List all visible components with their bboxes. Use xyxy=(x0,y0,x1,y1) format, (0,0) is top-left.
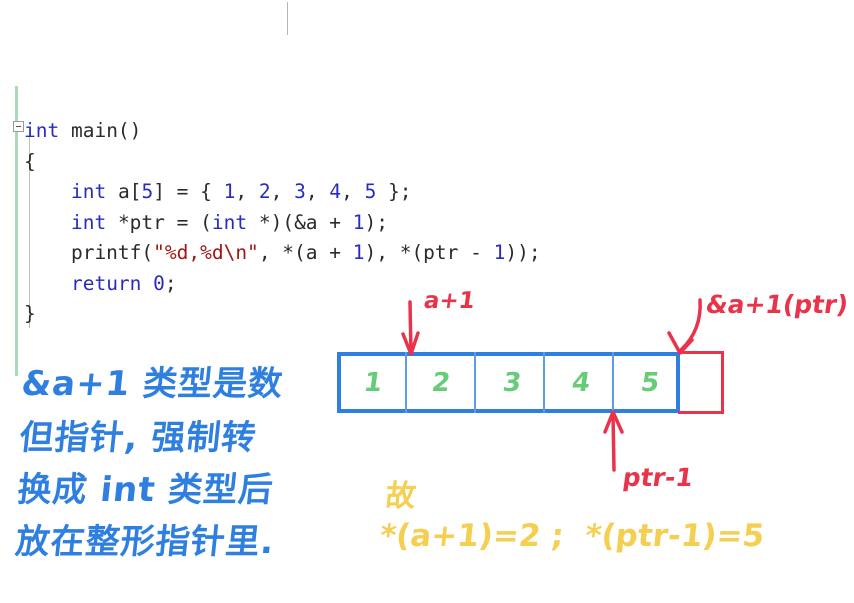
code-token: *ptr = ( xyxy=(106,211,212,234)
code-line: int a[5] = { 1, 2, 3, 4, 5 }; xyxy=(24,177,541,208)
code-token: } xyxy=(24,302,36,325)
code-token: 1 xyxy=(353,241,365,264)
code-token: { xyxy=(24,150,36,173)
code-token: "%d,%d\n" xyxy=(153,241,259,264)
code-line: { xyxy=(24,147,541,178)
code-token xyxy=(24,211,71,234)
code-token: 1 xyxy=(224,180,236,203)
code-token: 5 xyxy=(365,180,377,203)
code-token: , xyxy=(306,180,329,203)
code-token: int xyxy=(24,119,59,142)
text-cursor xyxy=(287,2,288,35)
code-line: } xyxy=(24,299,541,330)
code-token: , *(a + xyxy=(259,241,353,264)
code-token: printf( xyxy=(24,241,153,264)
code-token: a[ xyxy=(106,180,141,203)
code-token: 1 xyxy=(353,211,365,234)
code-token xyxy=(24,180,71,203)
code-token: ] = { xyxy=(153,180,223,203)
code-token: 1 xyxy=(494,241,506,264)
code-token: 3 xyxy=(294,180,306,203)
code-token: 5 xyxy=(141,180,153,203)
code-token: *)(&a + xyxy=(247,211,353,234)
code-token: ; xyxy=(165,272,177,295)
code-token: int xyxy=(212,211,247,234)
code-editor[interactable]: int main(){ int a[5] = { 1, 2, 3, 4, 5 }… xyxy=(0,0,854,603)
code-token: )); xyxy=(505,241,540,264)
code-token: ), *(ptr - xyxy=(364,241,493,264)
code-line: return 0; xyxy=(24,269,541,300)
code-line: int main() xyxy=(24,116,541,147)
code-token: 2 xyxy=(259,180,271,203)
code-token: 4 xyxy=(329,180,341,203)
code-token: , xyxy=(271,180,294,203)
code-token: , xyxy=(341,180,364,203)
code-line: printf("%d,%d\n", *(a + 1), *(ptr - 1)); xyxy=(24,238,541,269)
code-block[interactable]: int main(){ int a[5] = { 1, 2, 3, 4, 5 }… xyxy=(24,116,541,330)
code-line: int *ptr = (int *)(&a + 1); xyxy=(24,208,541,239)
code-token: , xyxy=(235,180,258,203)
code-token: }; xyxy=(376,180,411,203)
code-token xyxy=(141,272,153,295)
code-token xyxy=(24,272,71,295)
code-token: 0 xyxy=(153,272,165,295)
code-token: main() xyxy=(59,119,141,142)
code-token: ); xyxy=(365,211,388,234)
code-token: int xyxy=(71,180,106,203)
code-fold-toggle-icon[interactable] xyxy=(13,121,24,132)
code-token: return xyxy=(71,272,141,295)
code-token: int xyxy=(71,211,106,234)
